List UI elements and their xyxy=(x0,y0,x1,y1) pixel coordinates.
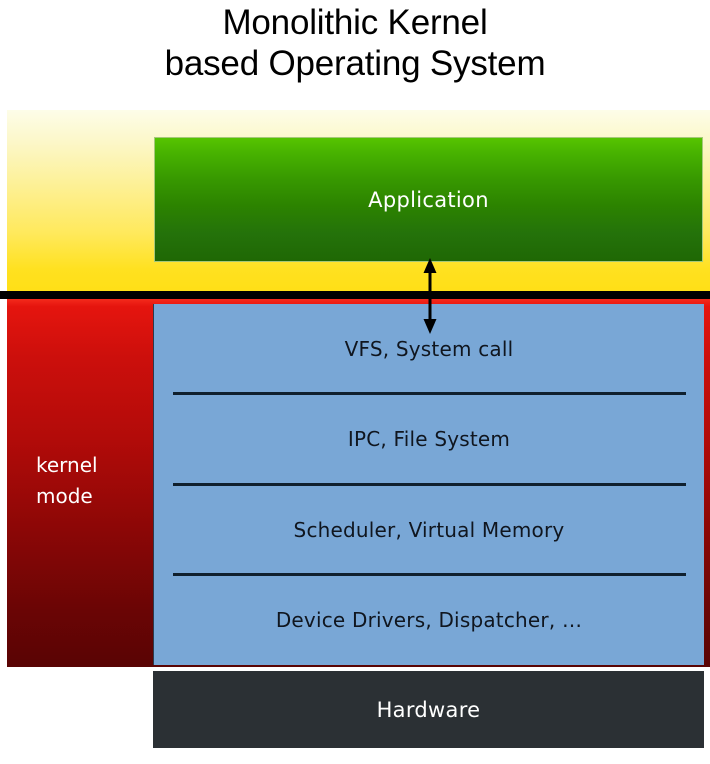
title-line-1: Monolithic Kernel xyxy=(0,2,710,43)
kernel-mode-label: kernel mode xyxy=(36,450,151,512)
kernel-row-label: VFS, System call xyxy=(345,337,514,361)
diagram-canvas: Monolithic Kernel based Operating System… xyxy=(0,0,710,764)
title-line-2: based Operating System xyxy=(0,43,710,84)
hardware-box: Hardware xyxy=(153,671,704,748)
kernel-row-label: Scheduler, Virtual Memory xyxy=(294,518,565,542)
hardware-label: Hardware xyxy=(377,698,481,722)
kernel-row-ipc: IPC, File System xyxy=(154,394,704,484)
kernel-stack: VFS, System call IPC, File System Schedu… xyxy=(153,304,704,665)
kernel-row-label: Device Drivers, Dispatcher, … xyxy=(276,608,582,632)
kernel-mode-label-line-1: kernel xyxy=(36,450,151,481)
kernel-row-drivers: Device Drivers, Dispatcher, … xyxy=(154,575,704,665)
mode-divider-bar xyxy=(0,291,710,299)
bidirectional-arrow-icon xyxy=(414,258,446,334)
diagram-title: Monolithic Kernel based Operating System xyxy=(0,2,710,84)
kernel-row-scheduler: Scheduler, Virtual Memory xyxy=(154,485,704,575)
application-box: Application xyxy=(154,137,703,262)
application-label: Application xyxy=(368,188,489,212)
kernel-mode-label-line-2: mode xyxy=(36,481,151,512)
kernel-row-label: IPC, File System xyxy=(348,427,510,451)
